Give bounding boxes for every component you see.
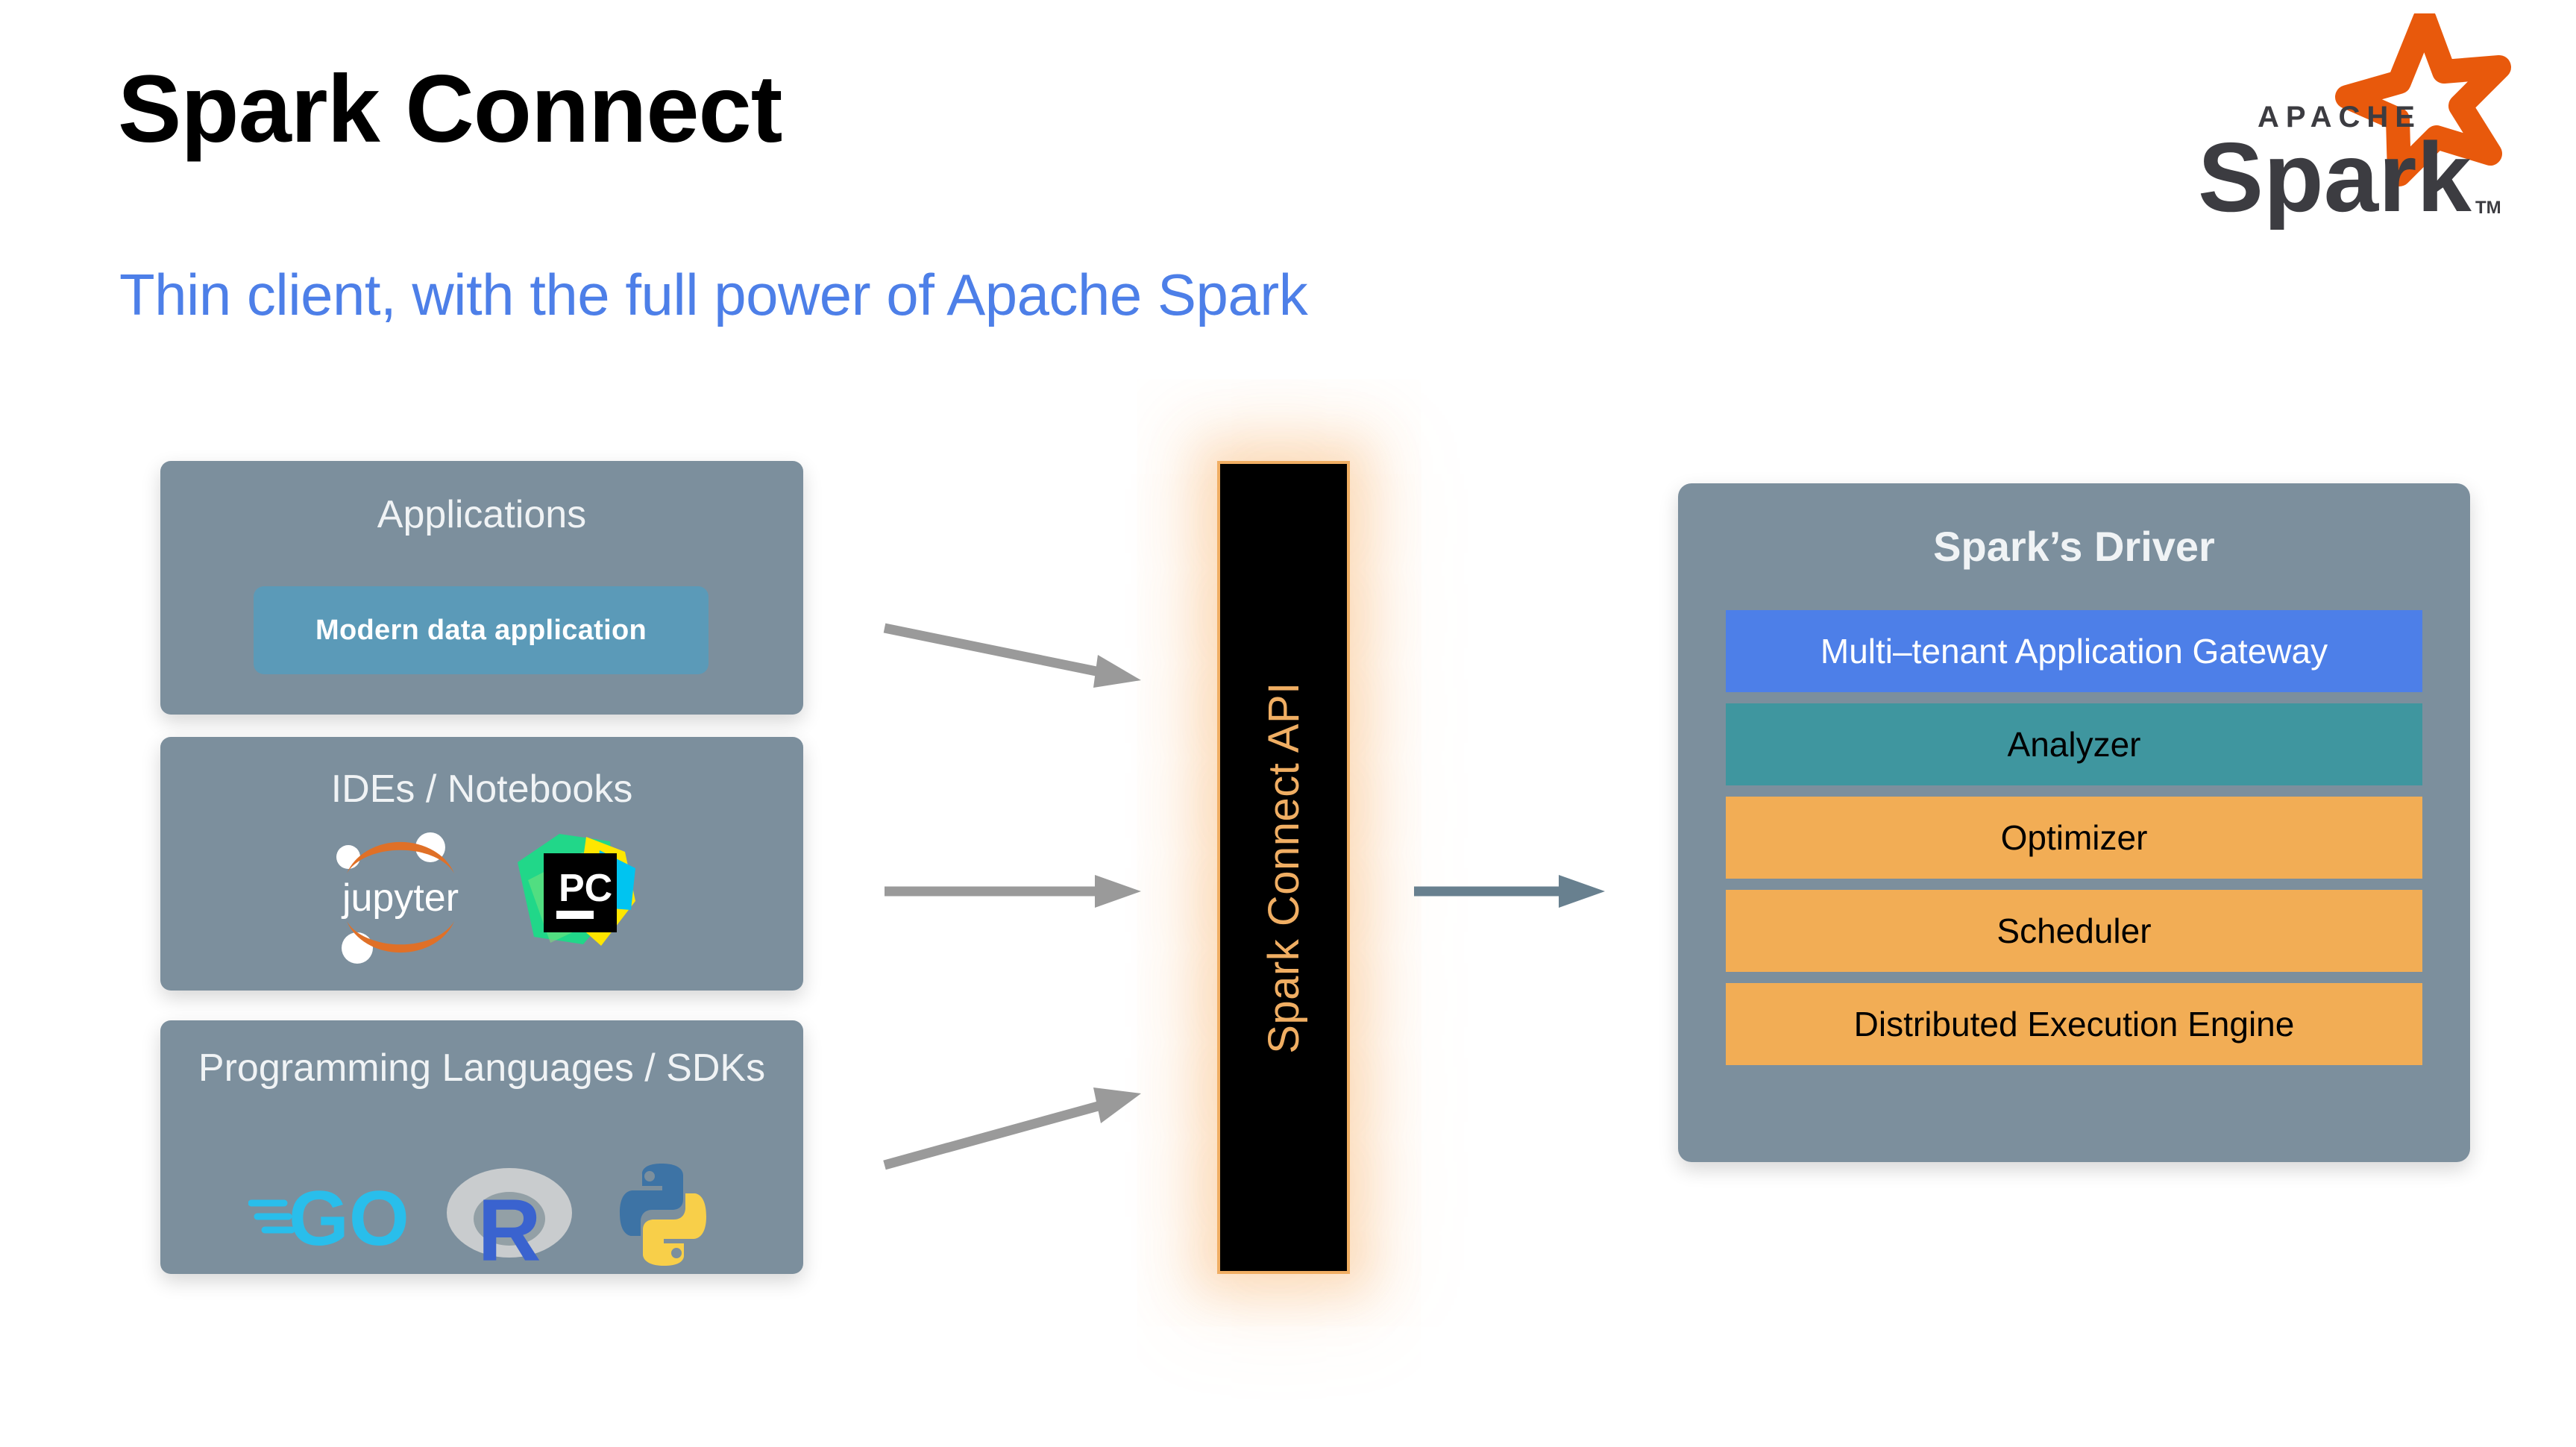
- slide-canvas: Spark Connect Thin client, with the full…: [0, 0, 2576, 1447]
- modern-data-application-chip[interactable]: Modern data application: [254, 586, 709, 674]
- panel-applications[interactable]: Applications Modern data application: [160, 461, 803, 715]
- spark-connect-api-bar[interactable]: Spark Connect API: [1217, 461, 1350, 1274]
- arrow-ides-to-api: [880, 850, 1193, 932]
- spark-connect-api-label: Spark Connect API: [1259, 682, 1309, 1054]
- apache-spark-logo: APACHE Spark TM: [2162, 13, 2535, 230]
- driver-row-execution-engine[interactable]: Distributed Execution Engine: [1726, 983, 2422, 1065]
- panel-applications-title: Applications: [160, 492, 803, 538]
- page-title: Spark Connect: [118, 60, 782, 160]
- pycharm-underscore: [556, 911, 594, 919]
- arrowhead-icon: [1559, 875, 1605, 908]
- spark-logo-svg: APACHE Spark TM: [2162, 13, 2535, 230]
- driver-row-scheduler[interactable]: Scheduler: [1726, 890, 2422, 972]
- panel-sparks-driver[interactable]: Spark’s Driver Multi–tenant Application …: [1678, 483, 2470, 1162]
- panel-ides-notebooks[interactable]: IDEs / Notebooks jupyter PC: [160, 737, 803, 991]
- pycharm-logo: PC: [512, 832, 638, 959]
- golang-logo: GO: [248, 1170, 409, 1260]
- golang-wordmark: GO: [289, 1176, 409, 1260]
- page-subtitle: Thin client, with the full power of Apac…: [119, 261, 1307, 329]
- arrowhead-icon: [1093, 1087, 1141, 1123]
- arrowhead-icon: [1093, 655, 1141, 688]
- logo-trademark-text: TM: [2475, 198, 2501, 218]
- r-language-logo: R: [444, 1159, 575, 1271]
- arrow-api-to-driver: [1410, 850, 1641, 932]
- python-logo: [611, 1161, 715, 1269]
- ides-logo-row: jupyter PC: [160, 825, 803, 967]
- driver-row-optimizer[interactable]: Optimizer: [1726, 797, 2422, 879]
- r-letter: R: [477, 1181, 541, 1271]
- panel-ides-title: IDEs / Notebooks: [160, 767, 803, 812]
- panel-languages-title: Programming Languages / SDKs: [160, 1046, 803, 1091]
- panel-programming-languages[interactable]: Programming Languages / SDKs GO R: [160, 1020, 803, 1274]
- jupyter-logo: jupyter: [326, 827, 479, 965]
- pycharm-badge-text: PC: [559, 867, 612, 910]
- golang-speed-lines: [251, 1203, 292, 1230]
- jupyter-dot-left: [336, 845, 360, 869]
- driver-component-stack: Multi–tenant Application Gateway Analyze…: [1726, 610, 2422, 1065]
- logo-spark-text: Spark: [2198, 122, 2472, 230]
- jupyter-dot-bottom: [342, 932, 373, 964]
- jupyter-wordmark: jupyter: [340, 876, 458, 920]
- arrow-applications-to-api: [880, 597, 1193, 731]
- arrowhead-icon: [1095, 875, 1141, 908]
- driver-row-analyzer[interactable]: Analyzer: [1726, 703, 2422, 785]
- languages-logo-row: GO R: [160, 1153, 803, 1276]
- arrow-languages-to-api: [880, 1044, 1193, 1193]
- driver-row-gateway[interactable]: Multi–tenant Application Gateway: [1726, 610, 2422, 692]
- panel-driver-title: Spark’s Driver: [1678, 522, 2470, 571]
